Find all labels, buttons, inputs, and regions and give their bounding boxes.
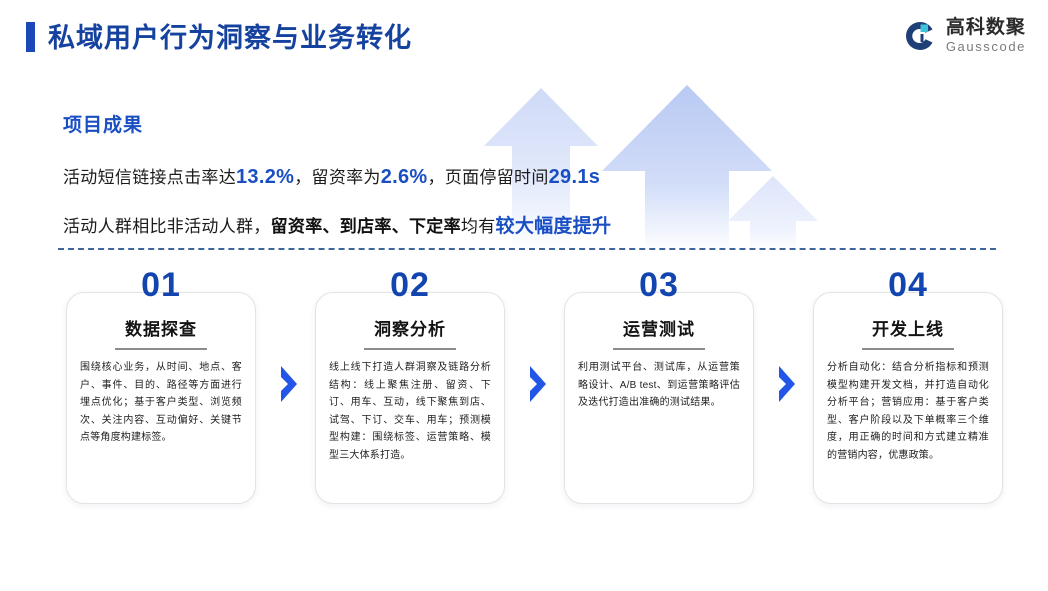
logo-text: 高科数聚 Gausscode (946, 18, 1026, 53)
chevron-right-icon-2 (527, 364, 549, 404)
results-line-1-part-1: 活动短信链接点击率达 (63, 168, 236, 187)
title-accent-bar (26, 22, 35, 52)
step-number-01: 01 (66, 268, 256, 302)
results-line-1: 活动短信链接点击率达13.2%，留资率为2.6%，页面停留时间29.1s (63, 163, 611, 189)
step-card-body-04: 开发上线 分析自动化：结合分析指标和预测模型构建开发文档，并打造自动化分析平台；… (813, 292, 1003, 504)
chevron-right-icon-1 (278, 364, 300, 404)
page-title: 私域用户行为洞察与业务转化 (48, 16, 412, 55)
step-title-01: 数据探查 (80, 315, 242, 340)
results-line-2: 活动人群相比非活动人群，留资率、到店率、下定率均有较大幅度提升 (63, 211, 611, 238)
project-results-block: 项目成果 活动短信链接点击率达13.2%，留资率为2.6%，页面停留时间29.1… (63, 110, 611, 238)
step-rule-01 (115, 348, 207, 350)
step-card-02[interactable]: 02 洞察分析 线上线下打造人群洞察及链路分析结构：线上聚焦注册、留资、下订、用… (315, 268, 505, 504)
slide-header: 私域用户行为洞察与业务转化 高科数聚 Gausscode (0, 0, 1048, 78)
metric-click-rate: 13.2% (236, 166, 294, 188)
chevron-right-icon-3 (776, 364, 798, 404)
step-card-01[interactable]: 01 数据探查 围绕核心业务，从时间、地点、客户、事件、目的、路径等方面进行埋点… (66, 268, 256, 504)
step-number-02: 02 (315, 268, 505, 302)
background-arrow-right (728, 176, 818, 252)
results-line-2-strong: 留资率、到店率、下定率 (271, 217, 461, 236)
step-card-body-02: 洞察分析 线上线下打造人群洞察及链路分析结构：线上聚焦注册、留资、下订、用车、互… (315, 292, 505, 504)
step-card-03[interactable]: 03 运营测试 利用测试平台、测试库，从运营策略设计、A/B test、到运营策… (564, 268, 754, 504)
results-line-1-part-2: ，留资率为 (294, 168, 381, 187)
step-title-03: 运营测试 (578, 315, 740, 340)
process-steps: 01 数据探查 围绕核心业务，从时间、地点、客户、事件、目的、路径等方面进行埋点… (0, 268, 1048, 538)
results-line-2-part-1: 活动人群相比非活动人群， (63, 217, 271, 236)
step-rule-02 (364, 348, 456, 350)
brand-logo: 高科数聚 Gausscode (903, 18, 1026, 53)
results-line-2-part-2: 均有 (461, 217, 496, 236)
background-arrow-center (602, 85, 772, 252)
step-title-02: 洞察分析 (329, 315, 491, 340)
results-line-1-part-3: ，页面停留时间 (428, 168, 549, 187)
step-rule-03 (613, 348, 705, 350)
slide-root: 私域用户行为洞察与业务转化 高科数聚 Gausscode 项目成果 活动短信链接… (0, 0, 1048, 591)
logo-text-cn: 高科数聚 (946, 18, 1026, 37)
gausscode-logo-icon (903, 19, 937, 53)
step-description-03: 利用测试平台、测试库，从运营策略设计、A/B test、到运营策略评估及迭代打造… (578, 359, 740, 412)
step-card-body-03: 运营测试 利用测试平台、测试库，从运营策略设计、A/B test、到运营策略评估… (564, 292, 754, 504)
step-description-02: 线上线下打造人群洞察及链路分析结构：线上聚焦注册、留资、下订、用车、互动，线下聚… (329, 359, 491, 464)
step-description-04: 分析自动化：结合分析指标和预测模型构建开发文档，并打造自动化分析平台；营销应用：… (827, 359, 989, 464)
step-title-04: 开发上线 (827, 315, 989, 340)
step-number-04: 04 (813, 268, 1003, 302)
results-heading: 项目成果 (63, 110, 611, 137)
metric-lead-rate: 2.6% (381, 166, 428, 188)
step-rule-04 (862, 348, 954, 350)
metric-dwell-time: 29.1s (549, 166, 601, 188)
step-number-03: 03 (564, 268, 754, 302)
dashed-divider (58, 248, 996, 250)
step-card-04[interactable]: 04 开发上线 分析自动化：结合分析指标和预测模型构建开发文档，并打造自动化分析… (813, 268, 1003, 504)
step-description-01: 围绕核心业务，从时间、地点、客户、事件、目的、路径等方面进行埋点优化；基于客户类… (80, 359, 242, 447)
step-card-body-01: 数据探查 围绕核心业务，从时间、地点、客户、事件、目的、路径等方面进行埋点优化；… (66, 292, 256, 504)
logo-text-en: Gausscode (946, 40, 1026, 53)
results-line-2-emphasis: 较大幅度提升 (496, 216, 612, 237)
